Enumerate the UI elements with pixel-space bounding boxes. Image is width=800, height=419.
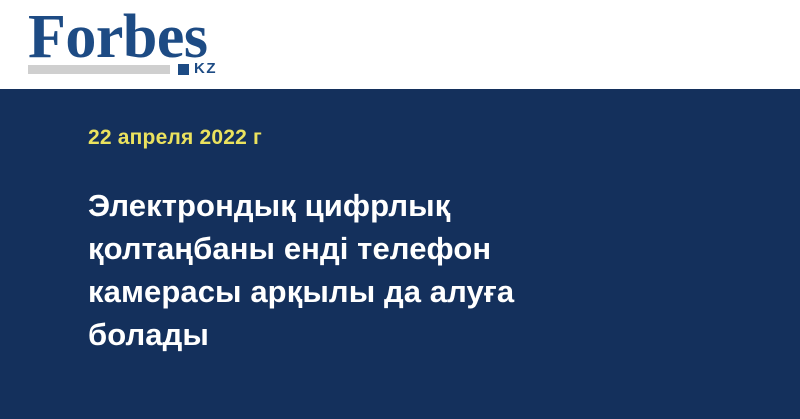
logo-rule-divider [28, 65, 170, 74]
logo-square-icon [178, 64, 189, 75]
forbes-wordmark: Forbes [28, 6, 208, 68]
forbes-kz-logo[interactable]: Forbes KZ [28, 6, 228, 82]
logo-kz-suffix: KZ [194, 61, 217, 76]
article-card: 22 апреля 2022 г Электрондық цифрлық қол… [0, 89, 800, 419]
site-header: Forbes KZ [0, 0, 800, 89]
article-headline[interactable]: Электрондық цифрлық қолтаңбаны енді теле… [88, 184, 588, 356]
article-card-page: Forbes KZ 22 апреля 2022 г Электрондық ц… [0, 0, 800, 419]
article-date: 22 апреля 2022 г [88, 126, 262, 150]
